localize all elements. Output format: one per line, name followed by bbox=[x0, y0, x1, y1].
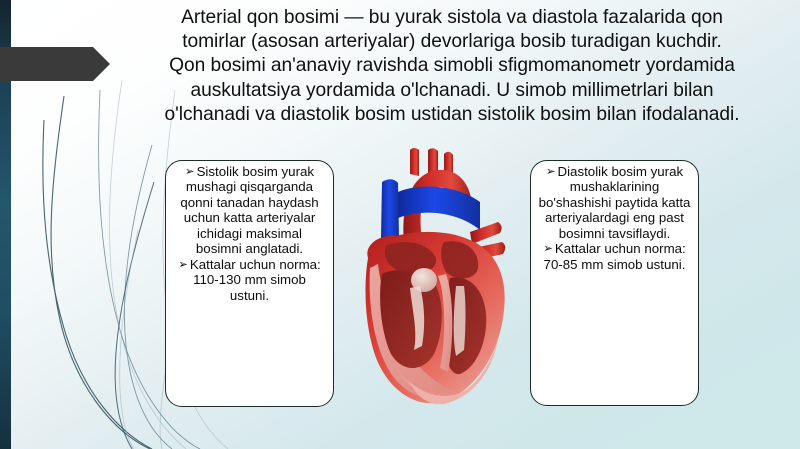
title-line-5: o'lchanadi va diastolik bosim ustidan si… bbox=[108, 103, 796, 127]
systolic-norm-text: Kattalar uchun norma: 110-130 mm simob u… bbox=[190, 257, 321, 303]
diastolic-definition-text: Diastolik bosim yurak mushaklarining bo'… bbox=[539, 164, 691, 241]
systolic-definition-paragraph: ➢Sistolik bosim yurak mushagi qisqargand… bbox=[173, 164, 326, 257]
title-line-3: Qon bosimi an'anaviy ravishda simobli sf… bbox=[108, 54, 796, 78]
title-line-1: Arterial qon bosimi — bu yurak sistola v… bbox=[108, 6, 796, 30]
arrow-bullet-icon: ➢ bbox=[178, 257, 190, 271]
arrow-bullet-icon: ➢ bbox=[546, 164, 558, 178]
title-line-4: auskultatsiya yordamida o'lchanadi. U si… bbox=[108, 79, 796, 103]
arrow-bullet-icon: ➢ bbox=[543, 241, 555, 255]
slide-canvas: Arterial qon bosimi — bu yurak sistola v… bbox=[0, 0, 800, 449]
diastolic-norm-text: Kattalar uchun norma: 70-85 mm simob ust… bbox=[544, 241, 686, 271]
page-title: Arterial qon bosimi — bu yurak sistola v… bbox=[108, 6, 796, 127]
arrow-bullet-icon: ➢ bbox=[185, 164, 197, 178]
human-heart-cross-section-image bbox=[352, 146, 518, 411]
systolic-norm-paragraph: ➢Kattalar uchun norma: 110-130 mm simob … bbox=[173, 257, 326, 303]
diastolic-definition-paragraph: ➢Diastolik bosim yurak mushaklarining bo… bbox=[538, 164, 691, 241]
diastolic-pressure-callout: ➢Diastolik bosim yurak mushaklarining bo… bbox=[530, 160, 699, 406]
title-line-2: tomirlar (asosan arteriyalar) devorlarig… bbox=[108, 30, 796, 54]
arrow-banner-shape bbox=[0, 47, 110, 81]
systolic-pressure-callout: ➢Sistolik bosim yurak mushagi qisqargand… bbox=[165, 160, 334, 407]
diastolic-norm-paragraph: ➢Kattalar uchun norma: 70-85 mm simob us… bbox=[538, 241, 691, 272]
systolic-definition-text: Sistolik bosim yurak mushagi qisqarganda… bbox=[180, 164, 318, 256]
